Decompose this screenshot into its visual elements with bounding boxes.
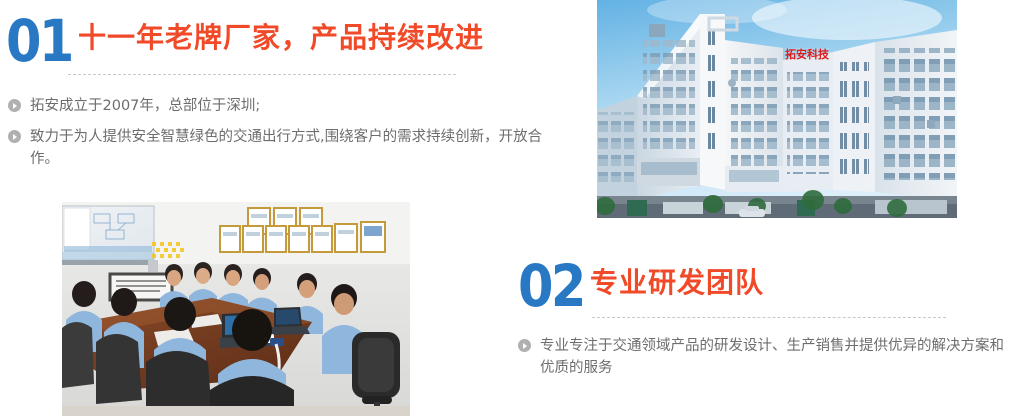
section-02-divider (592, 317, 946, 318)
section-01-number: 01 (6, 14, 64, 68)
bullet-text: 拓安成立于2007年，总部位于深圳; (30, 95, 260, 117)
section-01-divider (68, 74, 456, 75)
section-01-bullet-list: 拓安成立于2007年，总部位于深圳; 致力于为人提供安全智慧绿色的交通出行方式,… (8, 95, 568, 179)
section-02: 02 专业研发团队 (518, 259, 764, 313)
bullet-text: 致力于为人提供安全智慧绿色的交通出行方式,围绕客户的需求持续创新，开放合作。 (30, 126, 568, 170)
bullet-text: 专业专注于交通领域产品的研发设计、生产销售并提供优异的解决方案和优质的服务 (540, 335, 1009, 379)
list-item: 致力于为人提供安全智慧绿色的交通出行方式,围绕客户的需求持续创新，开放合作。 (8, 126, 568, 170)
arrow-circle-icon (518, 339, 531, 352)
arrow-circle-icon (8, 130, 21, 143)
office-photo (62, 202, 410, 416)
building-photo-image: 拓安科技 (597, 0, 957, 218)
section-02-heading-row: 02 专业研发团队 (518, 259, 764, 313)
arrow-circle-icon (8, 99, 21, 112)
list-item: 专业专注于交通领域产品的研发设计、生产销售并提供优异的解决方案和优质的服务 (518, 335, 1009, 379)
building-sign: 拓安科技 (785, 47, 830, 61)
promo-page: 01 十一年老牌厂家，产品持续改进 拓安成立于2007年，总部位于深圳; 致力于… (0, 0, 1009, 416)
building-sign-text: 拓安科技 (785, 47, 830, 61)
section-02-heading: 专业研发团队 (590, 266, 764, 300)
section-01-heading-row: 01 十一年老牌厂家，产品持续改进 (6, 14, 484, 68)
section-02-number: 02 (518, 259, 576, 313)
section-01: 01 十一年老牌厂家，产品持续改进 (6, 14, 484, 68)
list-item: 拓安成立于2007年，总部位于深圳; (8, 95, 568, 117)
section-01-heading: 十一年老牌厂家，产品持续改进 (78, 21, 484, 55)
section-02-bullet-list: 专业专注于交通领域产品的研发设计、生产销售并提供优异的解决方案和优质的服务 (518, 335, 1009, 388)
office-photo-image (62, 202, 410, 416)
building-photo: 拓安科技 (597, 0, 957, 218)
